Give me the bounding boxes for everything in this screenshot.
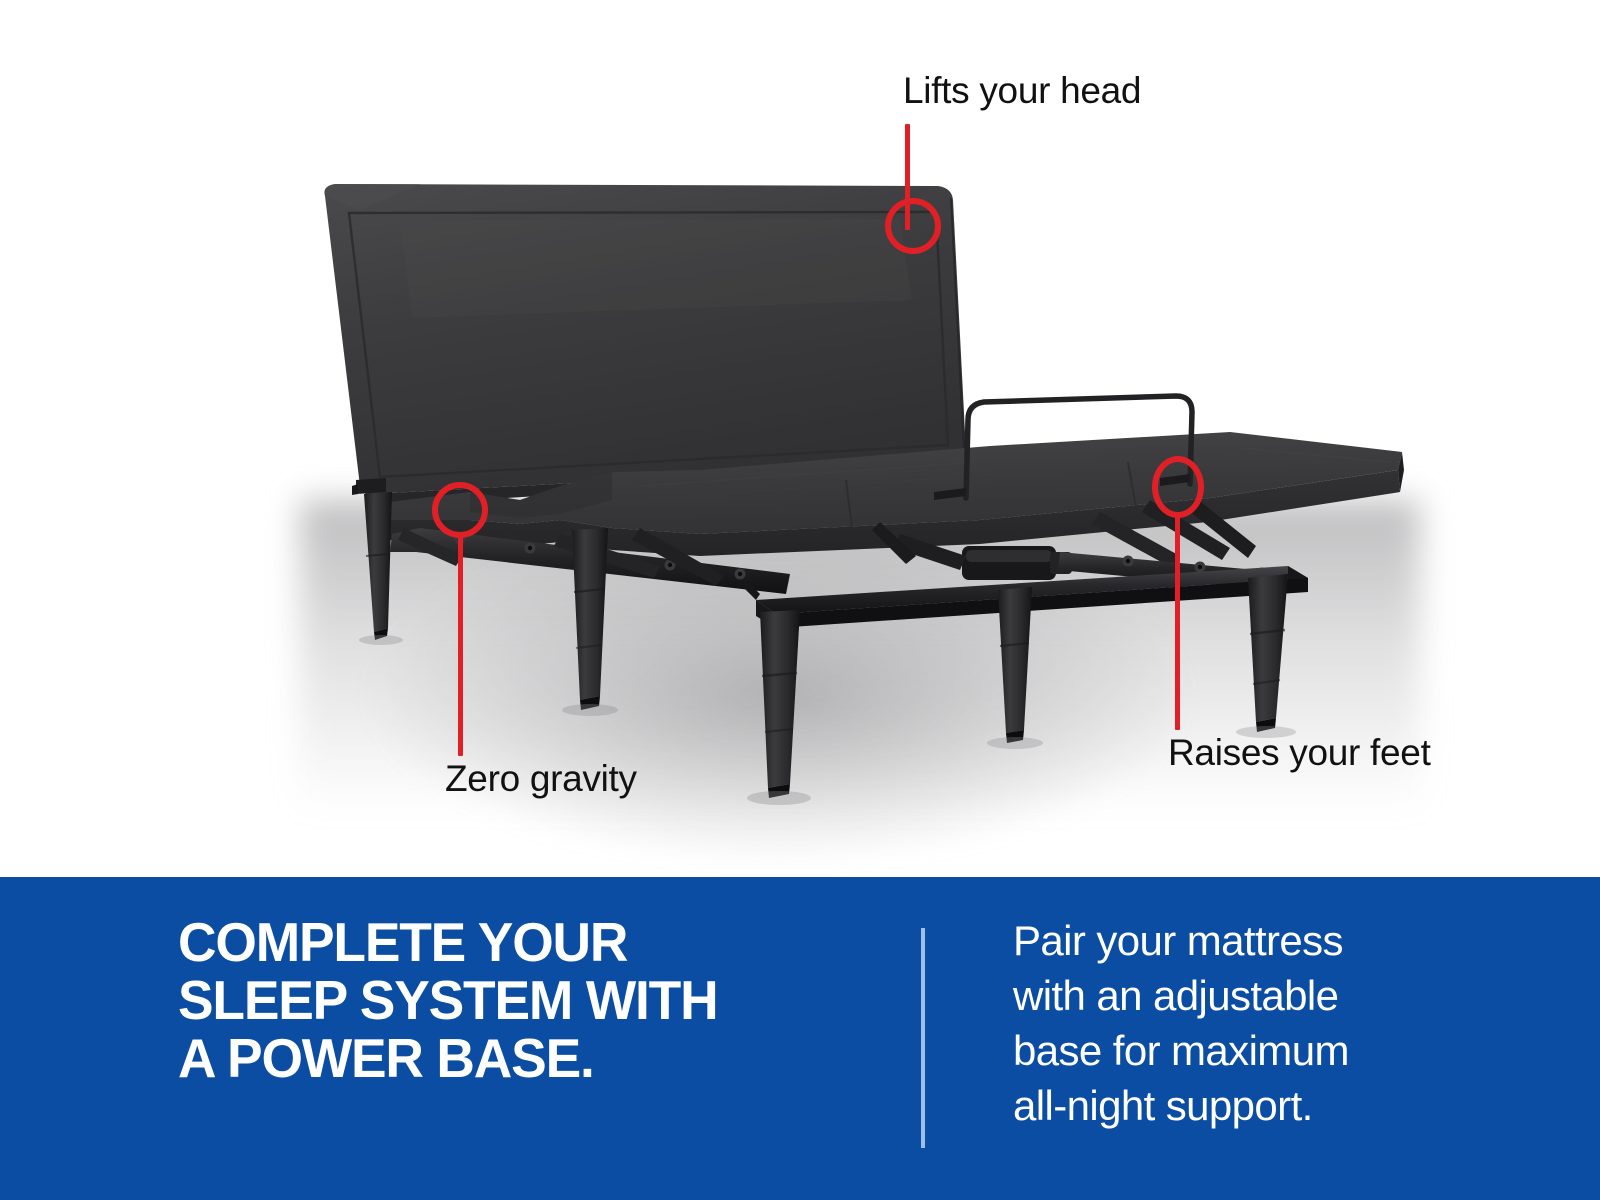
promo-page: Lifts your head Zero gravity Raises your… xyxy=(0,0,1600,1200)
headline-line-1: COMPLETE YOUR xyxy=(178,913,857,971)
subcopy-line-2: with an adjustable xyxy=(1013,968,1483,1023)
subcopy-line-4: all-night support. xyxy=(1013,1078,1483,1133)
callout-ring-raises-your-feet xyxy=(1152,456,1204,518)
callout-line-raises-your-feet xyxy=(1175,512,1180,730)
callout-ring-lifts-your-head xyxy=(885,198,941,254)
callout-ring-zero-gravity xyxy=(432,482,488,538)
callout-label-lifts-your-head: Lifts your head xyxy=(903,70,1141,112)
callout-label-raises-your-feet: Raises your feet xyxy=(1168,732,1431,774)
banner-subcopy: Pair your mattress with an adjustable ba… xyxy=(1013,913,1483,1133)
product-photo-area: Lifts your head Zero gravity Raises your… xyxy=(0,0,1600,877)
headline-line-2: SLEEP SYSTEM WITH xyxy=(178,971,857,1029)
promo-banner: COMPLETE YOUR SLEEP SYSTEM WITH A POWER … xyxy=(0,877,1600,1200)
banner-headline: COMPLETE YOUR SLEEP SYSTEM WITH A POWER … xyxy=(178,913,857,1087)
subcopy-line-1: Pair your mattress xyxy=(1013,913,1483,968)
callout-line-zero-gravity xyxy=(458,534,463,756)
headline-line-3: A POWER BASE. xyxy=(178,1029,857,1087)
banner-divider xyxy=(921,928,925,1148)
banner-content: COMPLETE YOUR SLEEP SYSTEM WITH A POWER … xyxy=(0,877,1600,1200)
callout-label-zero-gravity: Zero gravity xyxy=(445,758,637,800)
subcopy-line-3: base for maximum xyxy=(1013,1023,1483,1078)
